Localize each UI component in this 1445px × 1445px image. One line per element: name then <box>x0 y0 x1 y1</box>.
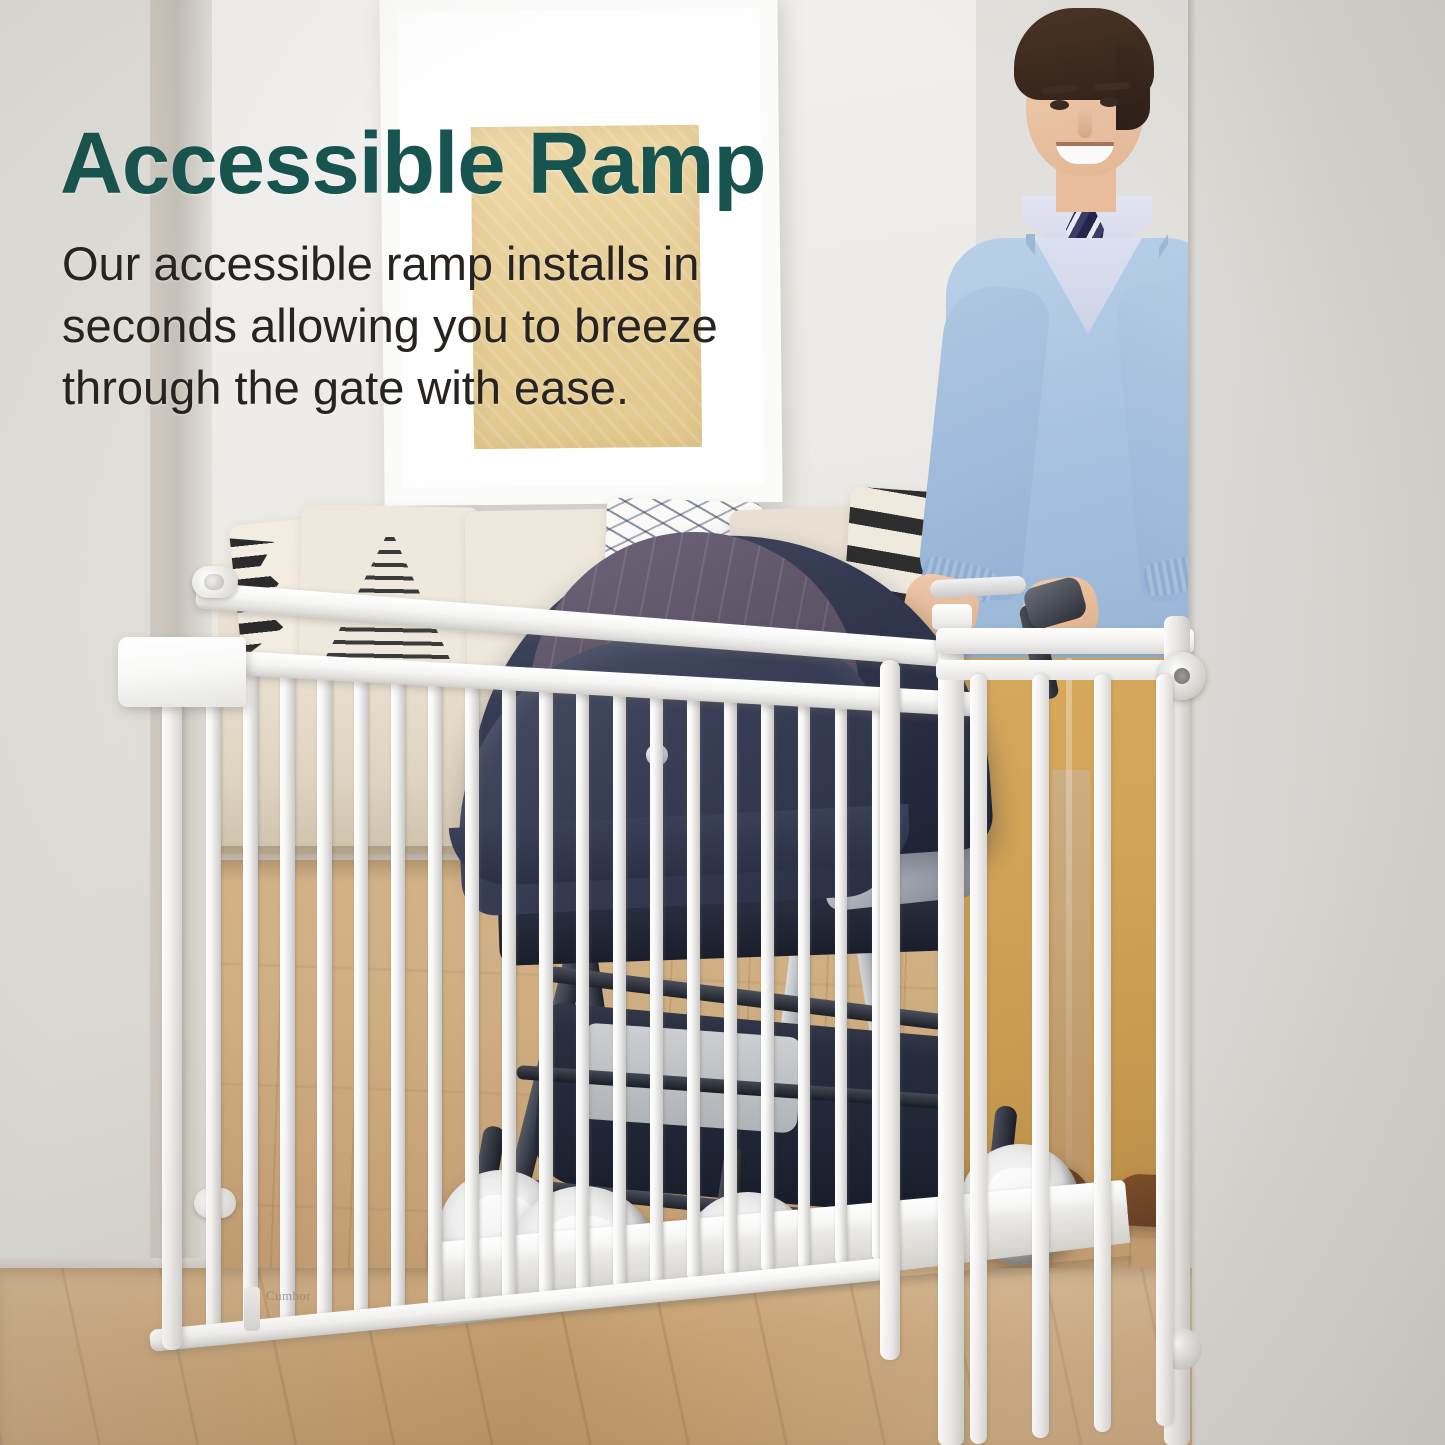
brand-logo: Cumbor <box>266 1285 328 1307</box>
gate-picket <box>761 696 774 1272</box>
gate-picket <box>428 677 442 1308</box>
gate-picket <box>206 664 221 1332</box>
gate-picket <box>798 698 810 1268</box>
gate-picket <box>391 675 405 1312</box>
extension-picket <box>1094 674 1111 1432</box>
gate-picket <box>243 666 258 1328</box>
gate-picket <box>317 670 332 1320</box>
extension-picket <box>1156 674 1173 1426</box>
gate-door-left-stile <box>162 690 182 1350</box>
product-marketing-image: Cumbor Accessible Ramp Our accessible ra… <box>0 0 1445 1445</box>
gate-extension-panel <box>936 628 1196 1438</box>
headline: Accessible Ramp <box>60 120 920 209</box>
gate-picket <box>576 685 589 1292</box>
extension-picket <box>1032 674 1049 1438</box>
extension-picket <box>970 674 987 1444</box>
safety-gate: Cumbor <box>0 0 1250 1445</box>
gate-latch-button[interactable] <box>244 1287 260 1331</box>
gate-picket <box>650 689 663 1284</box>
gate-picket <box>354 672 368 1316</box>
gate-picket <box>539 683 553 1296</box>
extension-top-rail <box>936 628 1194 654</box>
gate-picket <box>502 681 516 1300</box>
body-copy: Our accessible ramp installs in seconds … <box>62 233 852 419</box>
gate-picket <box>687 691 700 1280</box>
extension-post-left <box>938 610 964 1445</box>
gate-picket <box>613 687 626 1288</box>
extension-post-cap <box>932 604 972 630</box>
gate-door-right-stile <box>880 660 900 1360</box>
gate-picket <box>465 679 479 1304</box>
gate-picket <box>280 668 295 1324</box>
gate-latch-housing[interactable]: Cumbor <box>118 637 246 707</box>
gate-picket <box>835 700 847 1264</box>
gate-picket <box>724 694 737 1276</box>
